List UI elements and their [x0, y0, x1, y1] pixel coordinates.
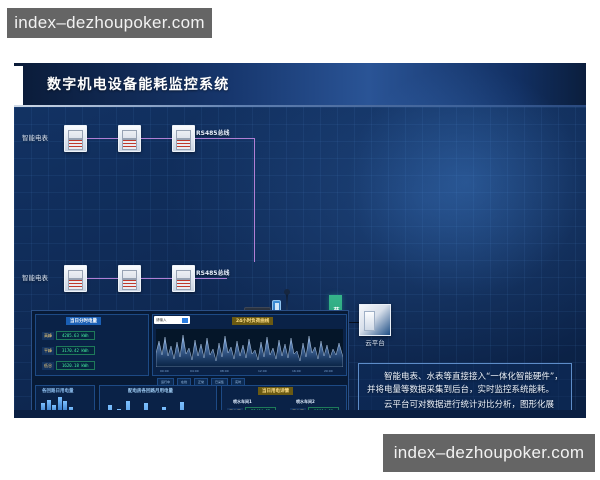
description-paragraph-1: 智能电表、水表等直接接入“一体化智能硬件”，并将电量等数据采集到后台，实时监控系…: [367, 371, 563, 397]
metric-row-1: 高峰 4285.63 kWh: [42, 331, 95, 340]
smart-meter-3: [172, 125, 195, 152]
search-input[interactable]: 请输入: [154, 316, 190, 324]
search-icon[interactable]: [182, 318, 188, 323]
metric-key: 高峰: [42, 332, 54, 340]
bus-label-bottom: RS485总线: [196, 268, 229, 277]
bus-segment-1: [87, 138, 118, 139]
panel-title-bars-left: 各回路日用电量: [38, 387, 78, 395]
metric-row-2: 平峰 3170.42 kWh: [42, 346, 95, 355]
panel-title-detail: 当日用电详情: [258, 387, 293, 395]
metric-row-3: 低谷 1620.18 kWh: [42, 361, 95, 370]
axis-tick: 00:00: [160, 369, 169, 373]
page-title: 数字机电设备能耗监控系统: [47, 74, 229, 94]
metric-key: 低谷: [42, 362, 54, 370]
axis-tick: 16:00: [292, 369, 301, 373]
axis-tick: 20:00: [324, 369, 333, 373]
bus-segment-2: [141, 138, 172, 139]
axis-tick: 12:00: [258, 369, 267, 373]
slide-footer-strip: [14, 410, 586, 418]
smart-meter-6: [172, 265, 195, 292]
axis-tick: 04:00: [190, 369, 199, 373]
glow-accent: [316, 67, 586, 297]
metric-value: 3170.42 kWh: [56, 346, 95, 355]
metric-key: 平峰: [42, 347, 54, 355]
smart-meter-4: [64, 265, 87, 292]
search-placeholder: 请输入: [156, 318, 167, 323]
metric-value: 4285.63 kWh: [56, 331, 95, 340]
dashboard-screenshot[interactable]: 当日分时电量 高峰 4285.63 kWh 平峰 3170.42 kWh 低谷 …: [31, 310, 349, 418]
meter-label-bottom: 智能电表: [22, 274, 48, 282]
bus-label-top: RS485总线: [196, 128, 229, 137]
screenshot-root: index–dezhoupoker.com 数字机电设备能耗监控系统 智能电表 …: [0, 0, 600, 480]
load-curve-chart: [156, 329, 343, 367]
panel-title-today: 当日分时电量: [66, 317, 101, 325]
bus-segment-5: [141, 278, 172, 279]
panel-title-curve: 24小时负荷曲线: [232, 317, 273, 325]
slide-body: 智能电表 RS485总线 智能电表 RS485总线: [14, 107, 586, 418]
smart-meter-5: [118, 265, 141, 292]
watermark-bottom: index–dezhoupoker.com: [383, 434, 595, 472]
bus-riser-top: [254, 138, 255, 262]
workshop-name: 喷水车间2: [296, 399, 315, 405]
bus-segment-6: [195, 278, 227, 279]
bus-segment-3: [195, 138, 255, 139]
smart-meter-2: [118, 125, 141, 152]
axis-tick: 08:00: [220, 369, 229, 373]
presentation-slide: 数字机电设备能耗监控系统 智能电表 RS485总线 智能电表 RS485总线: [14, 63, 586, 418]
meter-label-top: 智能电表: [22, 134, 48, 142]
watermark-top: index–dezhoupoker.com: [7, 8, 212, 38]
header-accent-strip: [14, 66, 23, 105]
workshop-name: 喷水车间1: [233, 399, 252, 405]
smart-meter-1: [64, 125, 87, 152]
cloud-platform-label: 云平台: [359, 339, 391, 347]
metric-value: 1620.18 kWh: [56, 361, 95, 370]
panel-title-bars-mid: 配电房各回路月用电量: [124, 387, 177, 395]
cloud-platform-icon: [359, 304, 391, 336]
bus-segment-4: [87, 278, 118, 279]
